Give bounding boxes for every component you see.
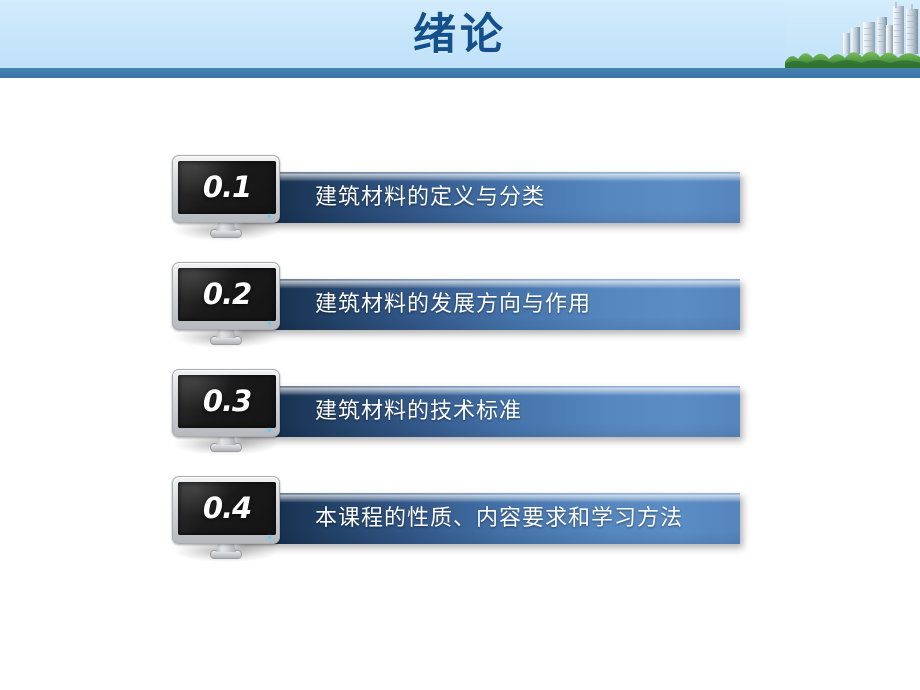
agenda-bar[interactable]: 本课程的性质、内容要求和学习方法 (235, 493, 740, 544)
agenda-bar[interactable]: 建筑材料的发展方向与作用 (235, 279, 740, 330)
list-item[interactable]: 建筑材料的技术标准 0.3 (0, 354, 920, 461)
monitor-bezel: 0.3 (172, 369, 280, 437)
agenda-item-number: 0.2 (178, 268, 276, 321)
power-led-icon (268, 322, 271, 325)
header-divider (0, 68, 920, 78)
monitor-bezel: 0.1 (172, 155, 280, 223)
agenda-item-number: 0.3 (178, 375, 276, 428)
monitor-screen: 0.1 (178, 161, 276, 214)
agenda-item-label: 建筑材料的技术标准 (315, 387, 732, 438)
agenda-bar[interactable]: 建筑材料的定义与分类 (235, 172, 740, 223)
monitor-screen: 0.2 (178, 268, 276, 321)
list-item[interactable]: 建筑材料的定义与分类 0.1 (0, 140, 920, 247)
monitor-screen: 0.4 (178, 482, 276, 535)
monitor-bezel: 0.2 (172, 262, 280, 330)
page-title: 绪论 (0, 4, 920, 66)
list-item[interactable]: 建筑材料的发展方向与作用 0.2 (0, 247, 920, 354)
monitor-icon[interactable]: 0.3 (172, 369, 280, 457)
list-item[interactable]: 本课程的性质、内容要求和学习方法 0.4 (0, 461, 920, 568)
power-led-icon (268, 215, 271, 218)
monitor-screen: 0.3 (178, 375, 276, 428)
monitor-icon[interactable]: 0.4 (172, 476, 280, 564)
agenda-item-number: 0.1 (178, 161, 276, 214)
agenda-item-label: 建筑材料的定义与分类 (315, 173, 732, 224)
power-led-icon (268, 536, 271, 539)
agenda-menu: 建筑材料的定义与分类 0.1 建筑材料的发展方向与作用 (0, 140, 920, 568)
monitor-bezel: 0.4 (172, 476, 280, 544)
power-led-icon (268, 429, 271, 432)
agenda-bar[interactable]: 建筑材料的技术标准 (235, 386, 740, 437)
agenda-item-label: 建筑材料的发展方向与作用 (315, 280, 732, 331)
agenda-item-number: 0.4 (178, 482, 276, 535)
monitor-icon[interactable]: 0.2 (172, 262, 280, 350)
slide-header: 绪论 (0, 0, 920, 78)
monitor-icon[interactable]: 0.1 (172, 155, 280, 243)
agenda-item-label: 本课程的性质、内容要求和学习方法 (315, 494, 732, 545)
